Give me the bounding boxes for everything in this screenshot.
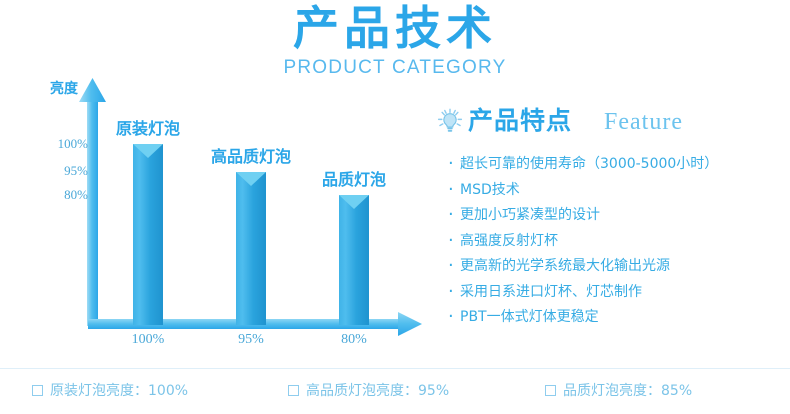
bar-fill bbox=[236, 172, 266, 325]
bar-notch-icon bbox=[236, 172, 266, 186]
brightness-bar-chart: 亮度 bbox=[0, 76, 430, 361]
bar-high-quality-bulb: 高品质灯泡 bbox=[236, 172, 266, 325]
feature-title-cn: 产品特点 bbox=[468, 104, 572, 138]
bar-label: 原装灯泡 bbox=[116, 115, 180, 139]
x-tick-label: 100% bbox=[113, 332, 183, 348]
bar-original-bulb: 原装灯泡 bbox=[133, 144, 163, 325]
feature-title-en: Feature bbox=[604, 106, 683, 138]
feature-list-item: 高强度反射灯杯 bbox=[446, 229, 782, 255]
y-tick-label: 100% bbox=[40, 136, 88, 152]
y-tick-label: 80% bbox=[40, 187, 88, 203]
feature-heading: 产品特点 Feature bbox=[432, 104, 782, 146]
bar-fill bbox=[339, 195, 369, 325]
feature-list-item: 更加小巧紧凑型的设计 bbox=[446, 203, 782, 229]
footer-summary-item: 原装灯泡亮度：100% bbox=[32, 381, 188, 401]
feature-list-item: 采用日系进口灯杯、灯芯制作 bbox=[446, 280, 782, 306]
feature-list-item: MSD技术 bbox=[446, 178, 782, 204]
product-feature-panel: 产品特点 Feature 超长可靠的使用寿命（3000-5000小时） MSD技… bbox=[432, 104, 782, 331]
page-header: 产品技术 PRODUCT CATEGORY bbox=[0, 0, 790, 86]
feature-list-item: PBT一体式灯体更稳定 bbox=[446, 305, 782, 331]
footer-summary-label: 原装灯泡亮度：100% bbox=[50, 383, 188, 399]
bar-quality-bulb: 品质灯泡 bbox=[339, 195, 369, 325]
footer-summary-label: 高品质灯泡亮度：95% bbox=[306, 383, 449, 399]
checkbox-square-icon bbox=[32, 385, 43, 396]
bar-label: 高品质灯泡 bbox=[211, 143, 291, 167]
footer-summary-item: 高品质灯泡亮度：95% bbox=[288, 381, 449, 401]
x-tick-label: 80% bbox=[319, 332, 389, 348]
footer-summary-item: 品质灯泡亮度：85% bbox=[545, 381, 692, 401]
bar-notch-icon bbox=[133, 144, 163, 158]
feature-list: 超长可靠的使用寿命（3000-5000小时） MSD技术 更加小巧紧凑型的设计 … bbox=[432, 152, 782, 331]
page-title: 产品技术 bbox=[0, 2, 790, 54]
bar-notch-icon bbox=[339, 195, 369, 209]
feature-list-item: 超长可靠的使用寿命（3000-5000小时） bbox=[446, 152, 782, 178]
bar-fill bbox=[133, 144, 163, 325]
bar-label: 品质灯泡 bbox=[322, 166, 386, 190]
checkbox-square-icon bbox=[288, 385, 299, 396]
checkbox-square-icon bbox=[545, 385, 556, 396]
product-category-page: 产品技术 PRODUCT CATEGORY 亮度 bbox=[0, 0, 790, 414]
x-tick-label: 95% bbox=[216, 332, 286, 348]
brightness-summary-footer: 原装灯泡亮度：100% 高品质灯泡亮度：95% 品质灯泡亮度：85% bbox=[0, 369, 790, 414]
lightbulb-icon bbox=[436, 108, 464, 136]
feature-list-item: 更高新的光学系统最大化输出光源 bbox=[446, 254, 782, 280]
footer-summary-label: 品质灯泡亮度：85% bbox=[563, 383, 692, 399]
y-tick-label: 95% bbox=[40, 163, 88, 179]
